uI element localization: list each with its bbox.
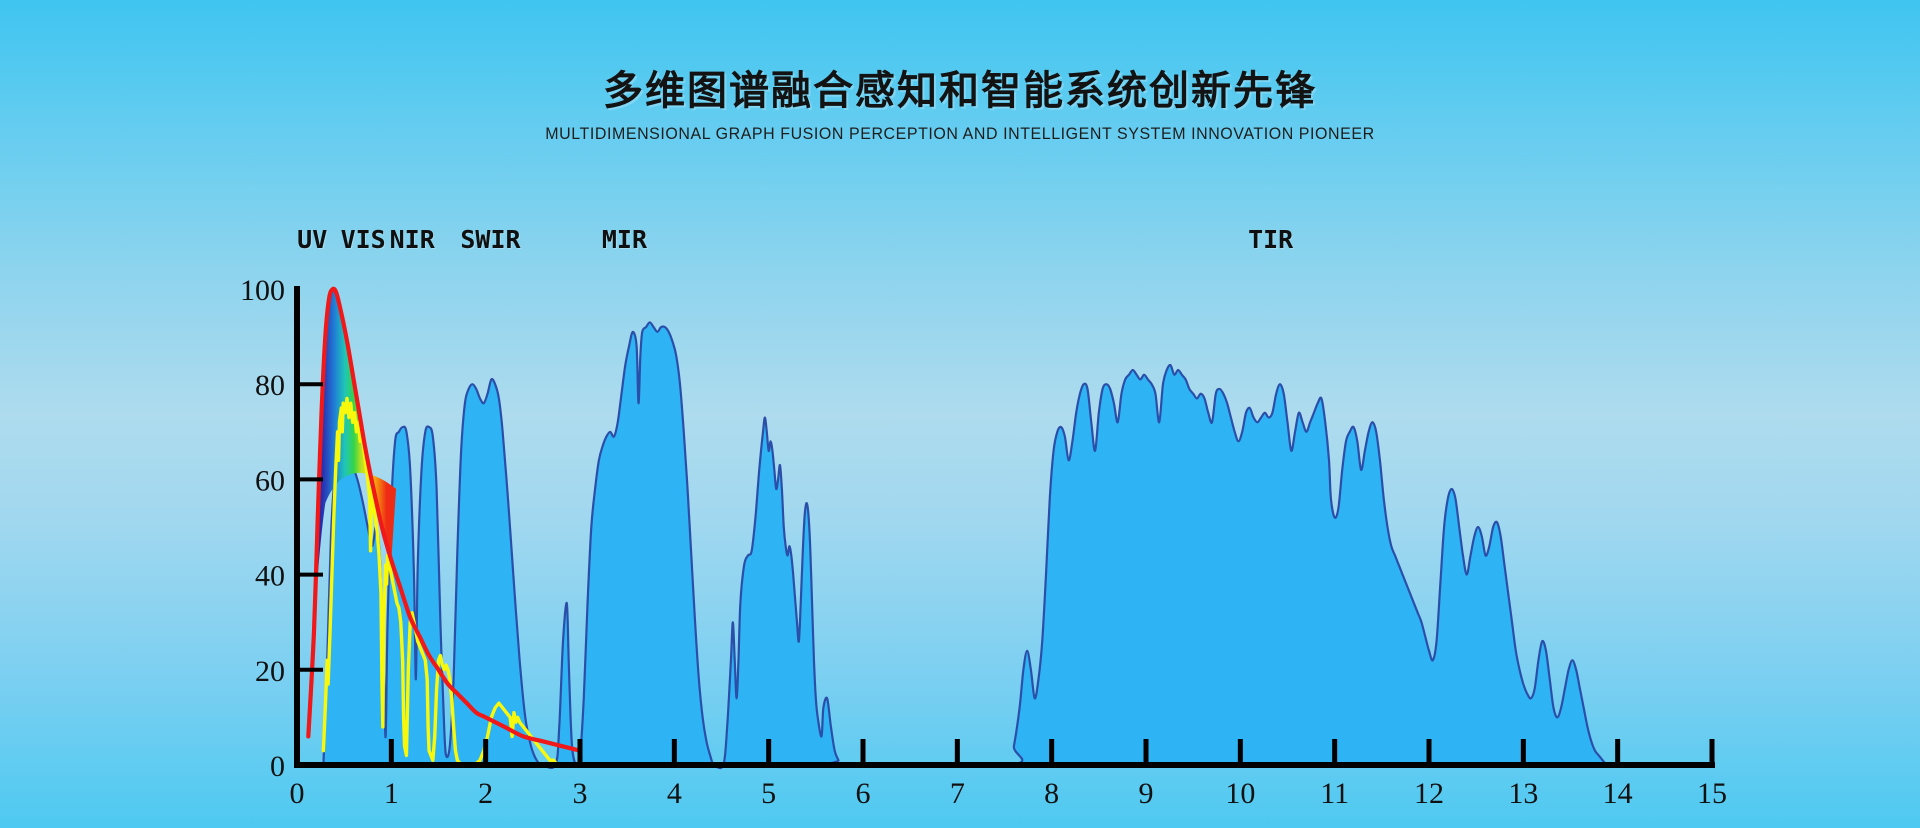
x-axis-tick-label: 8 (1044, 777, 1059, 810)
spectrum-chart: 0123456789101112131415020406080100 (0, 0, 1920, 828)
x-axis-tick-label: 10 (1225, 777, 1255, 810)
x-axis-tick-label: 9 (1139, 777, 1154, 810)
chart-series-layer (308, 289, 1606, 768)
y-axis-tick-label: 20 (255, 655, 285, 688)
x-axis-tick-label: 1 (384, 777, 399, 810)
atmospheric-transmission-area (323, 322, 1606, 768)
y-axis-tick-label: 40 (255, 560, 285, 593)
y-axis-tick-label: 100 (240, 274, 285, 307)
x-axis-tick-label: 6 (856, 777, 871, 810)
x-axis-tick-label: 11 (1320, 777, 1349, 810)
x-axis-tick-label: 2 (478, 777, 493, 810)
y-axis-tick-label: 60 (255, 464, 285, 497)
x-axis-tick-label: 0 (290, 777, 305, 810)
x-axis-tick-label: 12 (1414, 777, 1444, 810)
x-axis-tick-label: 5 (761, 777, 776, 810)
infographic-canvas: 多维图谱融合感知和智能系统创新先锋 MULTIDIMENSIONAL GRAPH… (0, 0, 1920, 828)
x-axis-tick-label: 13 (1508, 777, 1538, 810)
x-axis-tick-label: 3 (573, 777, 588, 810)
x-axis-tick-label: 14 (1603, 777, 1633, 810)
x-axis-tick-label: 4 (667, 777, 682, 810)
x-axis-tick-label: 15 (1697, 777, 1727, 810)
y-axis-tick-label: 80 (255, 369, 285, 402)
y-axis-tick-label: 0 (270, 750, 285, 783)
x-axis-tick-label: 7 (950, 777, 965, 810)
